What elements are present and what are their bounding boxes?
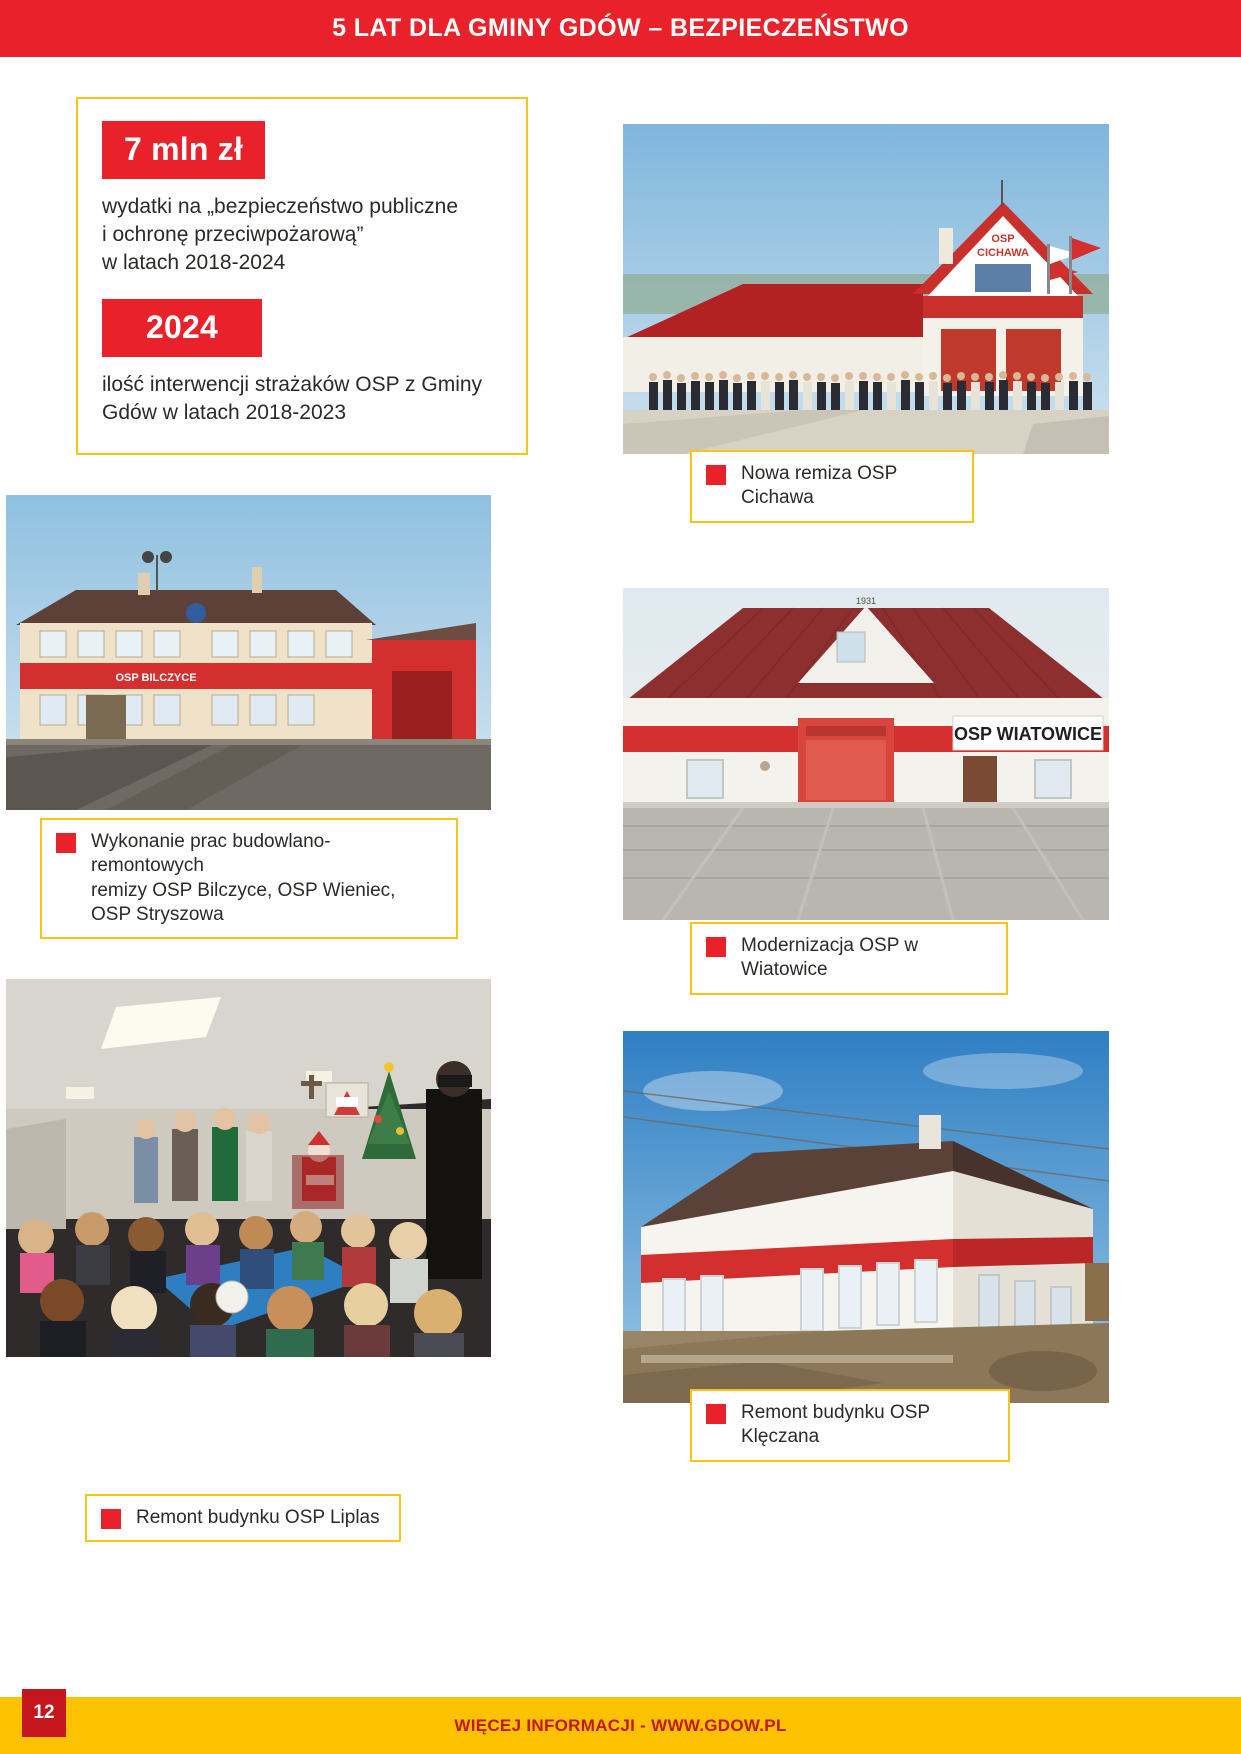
red-square-bullet-icon (706, 937, 726, 957)
page-title: 5 LAT DLA GMINY GDÓW – BEZPIECZEŃSTWO (332, 14, 909, 43)
red-square-bullet-icon (101, 1509, 121, 1529)
photo-osp-cichawa: OSP CICHAWA (623, 124, 1109, 454)
stat-badge-interventions: 2024 (102, 299, 262, 357)
page-number-badge: 12 (22, 1689, 66, 1737)
stat-badge-spending: 7 mln zł (102, 121, 265, 179)
svg-text:CICHAWA: CICHAWA (977, 247, 1029, 259)
statistics-box: 7 mln zł wydatki na „bezpieczeństwo publ… (76, 97, 528, 455)
caption-osp-kleczana: Remont budynku OSP Klęczana (690, 1389, 1010, 1462)
svg-text:OSP BILCZYCE: OSP BILCZYCE (115, 672, 196, 684)
caption-text: Modernizacja OSP w Wiatowice (741, 934, 988, 983)
caption-osp-wiatowice: Modernizacja OSP w Wiatowice (690, 922, 1008, 995)
photo-osp-bilczyce: OSP BILCZYCE (6, 495, 491, 810)
red-square-bullet-icon (706, 465, 726, 485)
caption-osp-cichawa: Nowa remiza OSP Cichawa (690, 450, 974, 523)
svg-text:OSP WIATOWICE: OSP WIATOWICE (954, 724, 1102, 744)
red-square-bullet-icon (56, 833, 76, 853)
footer-info-text: WIĘCEJ INFORMACJI - WWW.GDOW.PL (0, 1697, 1241, 1754)
svg-text:OSP: OSP (991, 233, 1014, 245)
stat-description-spending: wydatki na „bezpieczeństwo publiczne i o… (102, 193, 502, 277)
page-header: 5 LAT DLA GMINY GDÓW – BEZPIECZEŃSTWO (0, 0, 1241, 57)
red-square-bullet-icon (706, 1404, 726, 1424)
caption-osp-liplas: Remont budynku OSP Liplas (85, 1494, 401, 1542)
caption-osp-bilczyce: Wykonanie prac budowlano-remontowych rem… (40, 818, 458, 939)
stat-description-interventions: ilość interwencji strażaków OSP z Gminy … (102, 371, 502, 427)
photo-osp-kleczana (623, 1031, 1109, 1403)
caption-text: Nowa remiza OSP Cichawa (741, 462, 954, 511)
caption-text: Wykonanie prac budowlano-remontowych rem… (91, 830, 438, 927)
svg-text:1931: 1931 (856, 596, 876, 606)
photo-osp-wiatowice: 1931 OSP WIATOWICE (623, 588, 1109, 920)
caption-text: Remont budynku OSP Liplas (136, 1506, 380, 1530)
photo-osp-liplas (6, 979, 491, 1357)
caption-text: Remont budynku OSP Klęczana (741, 1401, 990, 1450)
